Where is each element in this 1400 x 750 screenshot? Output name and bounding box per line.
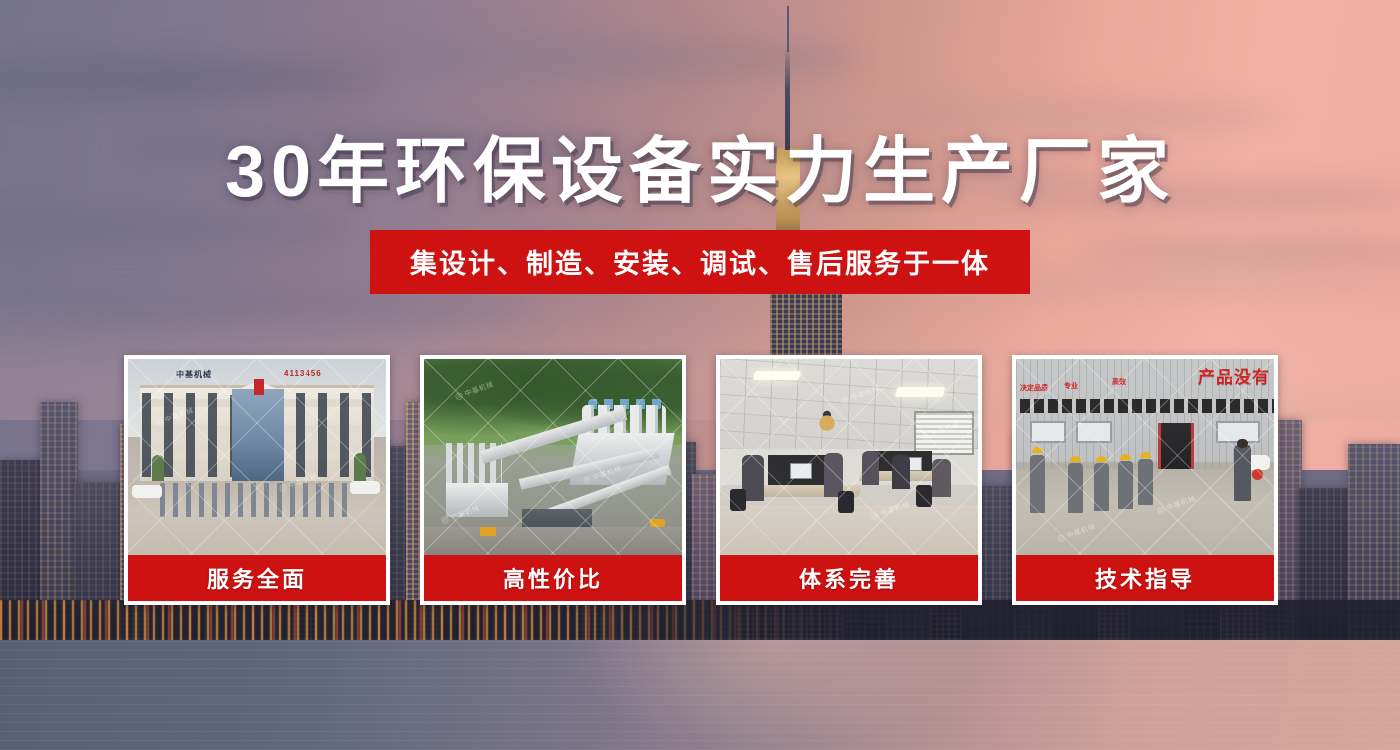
card-caption: 技术指导 [1016, 555, 1274, 601]
feature-card-row: 中基机械 4113456 中基机械 中基机械 服务全面 [124, 355, 1278, 605]
feature-card[interactable]: 中基机械 4113456 中基机械 中基机械 服务全面 [124, 355, 390, 605]
tower-spire-tip [787, 6, 789, 52]
subtitle-container: 集设计、制造、安装、调试、售后服务于一体 [0, 230, 1400, 294]
red-helmet [1252, 469, 1263, 480]
window-blinds [914, 411, 974, 455]
factory-yard-training-photo: 产品没有 决定品质 专业 高效 [1016, 359, 1274, 555]
factory-sign-text: 产品没有 [1198, 363, 1270, 388]
aerial-industrial-plant-photo: 中基机械 中基机械 中基机械 [424, 359, 682, 555]
company-sign-text: 中基机械 [176, 369, 212, 380]
instructor-figure [1234, 445, 1251, 501]
flag [254, 379, 264, 395]
factory-slogan-text: 决定品质 [1020, 383, 1048, 393]
feature-card[interactable]: 中基机械 中基机械 中基机械 高性价比 [420, 355, 686, 605]
card-caption: 服务全面 [128, 555, 386, 601]
staff-lineup [160, 483, 350, 517]
wall-decal [812, 407, 842, 433]
page-title: 30年环保设备实力生产厂家 [0, 136, 1400, 208]
office-workspace-photo: 中基机械 中基机械 中基机械 [720, 359, 978, 555]
phone-number-text: 4113456 [284, 369, 322, 378]
card-caption: 体系完善 [720, 555, 978, 601]
subtitle-badge: 集设计、制造、安装、调试、售后服务于一体 [370, 230, 1030, 294]
corporate-headquarters-photo: 中基机械 4113456 中基机械 中基机械 [128, 359, 386, 555]
cloud [760, 96, 1280, 136]
feature-card[interactable]: 中基机械 中基机械 中基机械 体系完善 [716, 355, 982, 605]
feature-card[interactable]: 产品没有 决定品质 专业 高效 [1012, 355, 1278, 605]
factory-slogan-text: 专业 [1064, 381, 1078, 391]
card-caption: 高性价比 [424, 555, 682, 601]
cloud [300, 36, 860, 82]
factory-slogan-text: 高效 [1112, 377, 1126, 387]
water-reflection-glow [560, 640, 980, 750]
promotional-banner: 30年环保设备实力生产厂家 集设计、制造、安装、调试、售后服务于一体 中基机械 … [0, 0, 1400, 750]
factory-door [1158, 423, 1194, 469]
